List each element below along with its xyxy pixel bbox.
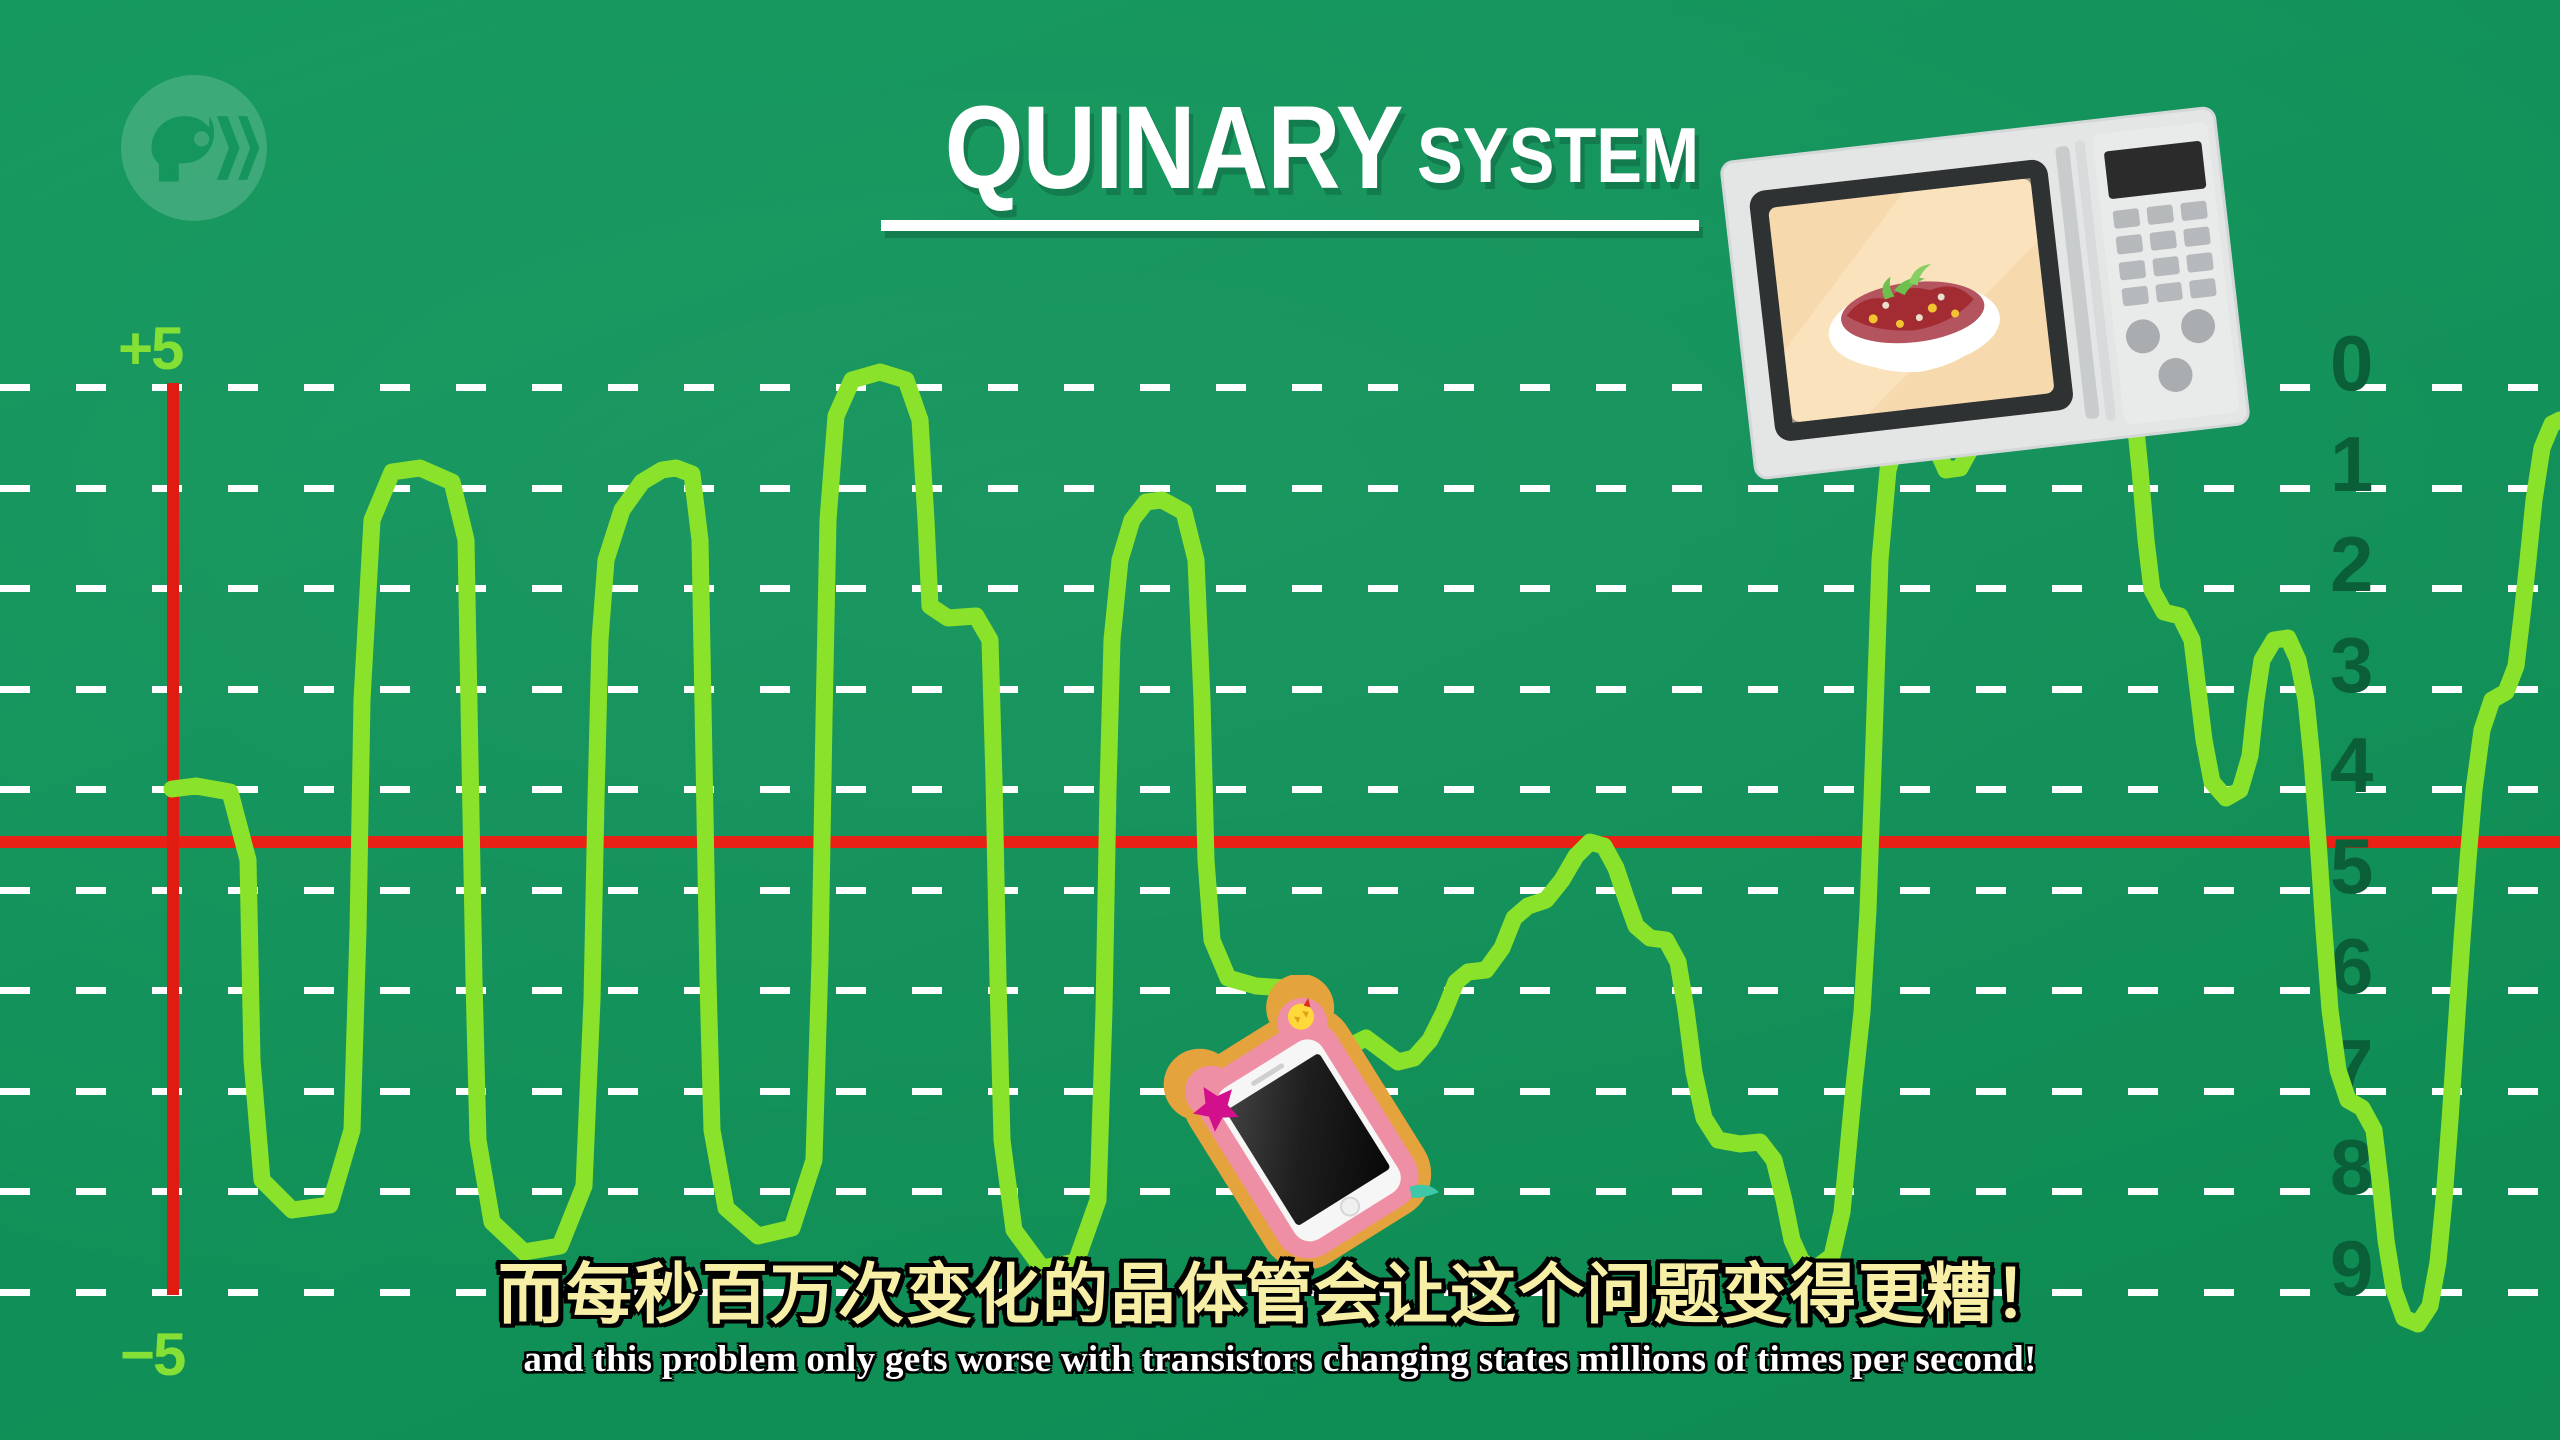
microwave-oven-illustration (1718, 101, 2252, 485)
title-main: QUINARY (945, 92, 1403, 204)
subtitle-chinese: 而每秒百万次变化的晶体管会让这个问题变得更糟！ (0, 1258, 2560, 1332)
smartphone-illustration (1145, 975, 1465, 1275)
title-sub: SYSTEM (1417, 118, 1699, 192)
video-frame: +5 −5 0 1 2 3 4 5 6 7 8 9 QUINARYSYSTEM (0, 0, 2560, 1440)
subtitle-english: and this problem only gets worse with tr… (0, 1340, 2560, 1381)
page-title: QUINARYSYSTEM (870, 92, 1710, 231)
title-text: QUINARYSYSTEM (870, 92, 1710, 204)
subtitle-block: 而每秒百万次变化的晶体管会让这个问题变得更糟！ and this problem… (0, 1258, 2560, 1381)
title-underline (881, 220, 1699, 231)
